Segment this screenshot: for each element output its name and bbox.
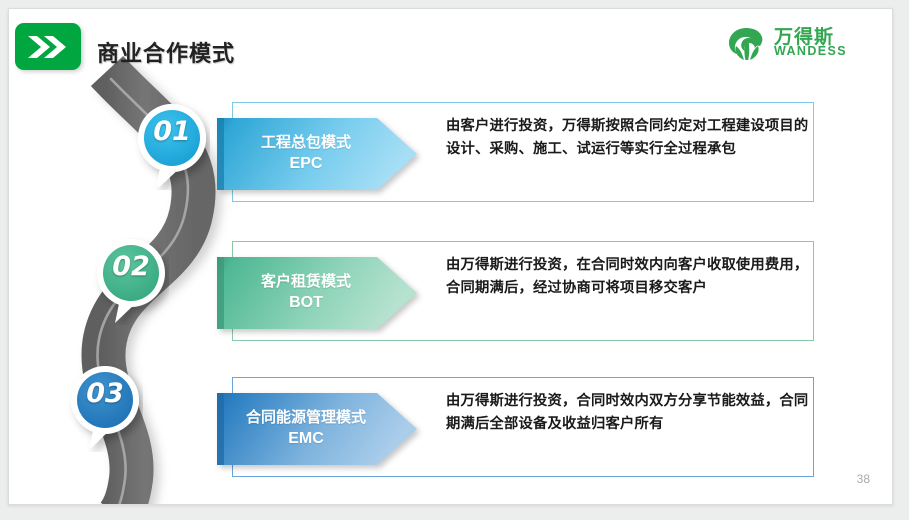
step-badge-02[interactable]: 02 <box>93 237 169 325</box>
mode-label-ribbon[interactable] <box>217 257 417 329</box>
mode-description-text: 由万得斯进行投资，合同时效内双方分享节能效益，合同期满后全部设备及收益归客户所有 <box>446 390 822 436</box>
logo-name-en: WANDESS <box>774 44 847 58</box>
badge-bubble-shape <box>93 237 169 325</box>
mode-description-text: 由客户进行投资，万得斯按照合同约定对工程建设项目的设计、采购、施工、试运行等实行… <box>446 115 822 161</box>
mode-label-ribbon[interactable] <box>217 118 417 190</box>
brand-logo: 万得斯 WANDESS <box>722 21 880 63</box>
sprout-leaf-icon <box>724 24 768 62</box>
step-badge-01[interactable]: 01 <box>134 102 210 190</box>
step-badge-03[interactable]: 03 <box>67 364 143 452</box>
mode-description-text: 由万得斯进行投资，在合同时效内向客户收取使用费用，合同期满后，经过协商可将项目移… <box>446 254 822 300</box>
slide-canvas: 商业合作模式 万得斯 WANDESS <box>8 8 893 505</box>
double-chevron-right-icon <box>15 23 81 70</box>
mode-label-ribbon[interactable] <box>217 393 417 465</box>
page-number: 38 <box>857 472 870 486</box>
page-title: 商业合作模式 <box>97 36 235 68</box>
badge-bubble-shape <box>134 102 210 190</box>
badge-bubble-shape <box>67 364 143 452</box>
